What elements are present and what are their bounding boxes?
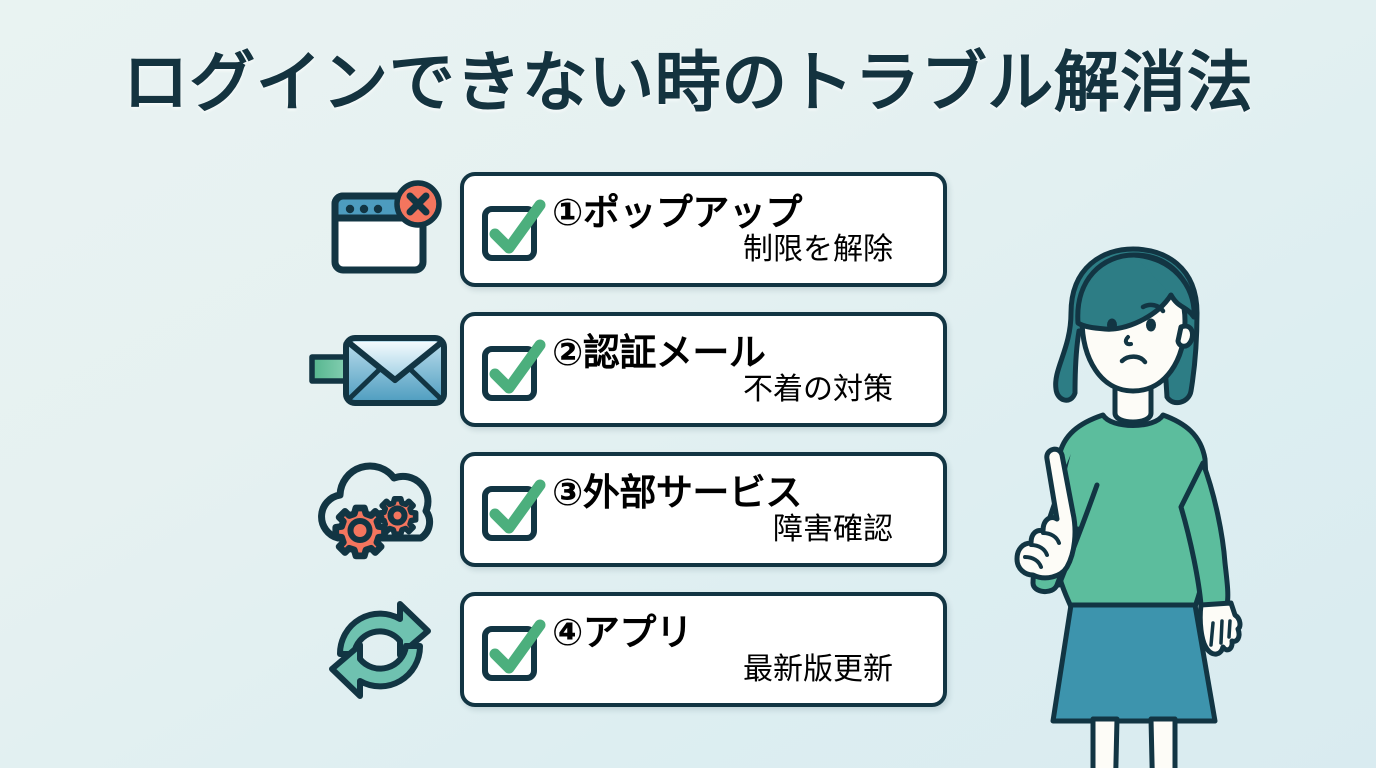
card-title: ④アプリ (552, 613, 929, 652)
card-text: ②認証メール 不着の対策 (552, 333, 943, 407)
card-app-update[interactable]: ④アプリ 最新版更新 (460, 592, 947, 707)
card-subtitle: 不着の対策 (552, 373, 929, 407)
card-text: ③外部サービス 障害確認 (552, 473, 943, 547)
page-title: ログインできない時のトラブル解消法 (0, 48, 1376, 117)
list-item[interactable]: ④アプリ 最新版更新 (300, 592, 980, 707)
card-title: ②認証メール (552, 333, 929, 372)
card-popup[interactable]: ①ポップアップ 制限を解除 (460, 172, 947, 287)
list-item[interactable]: ①ポップアップ 制限を解除 (300, 172, 980, 287)
checkbox-checked-icon (480, 613, 546, 687)
card-title: ①ポップアップ (552, 193, 929, 232)
slide-canvas: ログインできない時のトラブル解消法 (0, 0, 1376, 768)
refresh-sync-icon (300, 592, 460, 707)
checkbox-checked-icon (480, 473, 546, 547)
list-item[interactable]: ③外部サービス 障害確認 (300, 452, 980, 567)
card-subtitle: 制限を解除 (552, 233, 929, 267)
checklist: ①ポップアップ 制限を解除 (300, 172, 980, 732)
card-external-service[interactable]: ③外部サービス 障害確認 (460, 452, 947, 567)
cloud-gears-icon (300, 452, 460, 567)
list-item[interactable]: ②認証メール 不着の対策 (300, 312, 980, 427)
card-verification-mail[interactable]: ②認証メール 不着の対策 (460, 312, 947, 427)
card-subtitle: 最新版更新 (552, 653, 929, 687)
browser-window-blocked-icon (300, 172, 460, 287)
incoming-mail-icon (300, 312, 460, 427)
checkbox-checked-icon (480, 193, 546, 267)
worried-woman-pointing-illustration (975, 245, 1275, 745)
card-text: ④アプリ 最新版更新 (552, 613, 943, 687)
card-text: ①ポップアップ 制限を解除 (552, 193, 943, 267)
card-subtitle: 障害確認 (552, 513, 929, 547)
card-title: ③外部サービス (552, 473, 929, 512)
checkbox-checked-icon (480, 333, 546, 407)
